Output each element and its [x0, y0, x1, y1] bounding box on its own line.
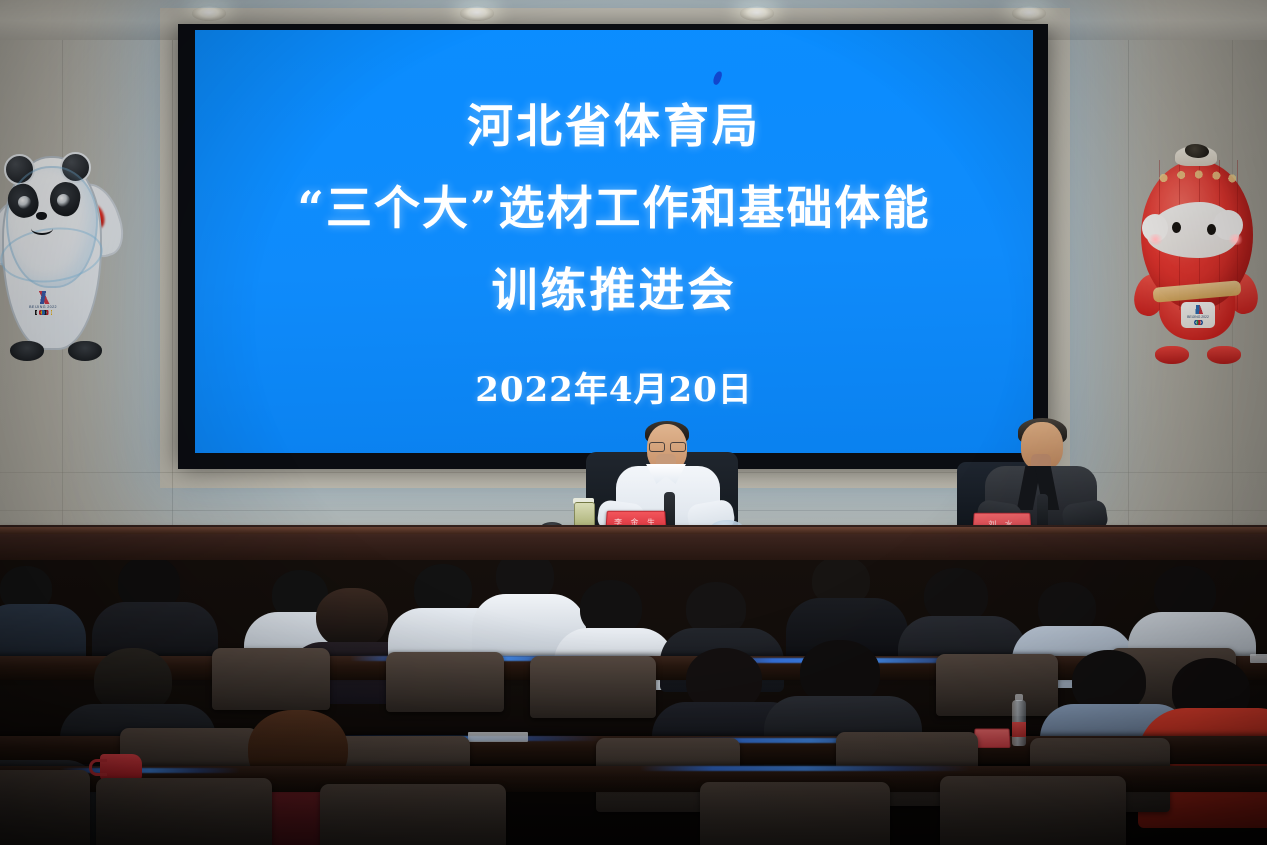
screen-title-line-2: “三个大”选材工作和基础体能	[298, 172, 931, 238]
ceiling-light	[460, 6, 494, 21]
mascot-blush-left	[1147, 234, 1164, 245]
emblem-mark	[32, 291, 54, 304]
desk-screen-reflection	[640, 766, 970, 771]
bottle-label	[1012, 722, 1026, 737]
lantern-knot	[1185, 144, 1209, 158]
water-bottle	[1012, 700, 1026, 746]
head-table-edge	[0, 527, 1267, 534]
lantern-pattern	[1153, 166, 1241, 186]
emblem-mark	[1187, 305, 1209, 314]
paralympic-emblem-icon: BEIJING 2022	[1181, 302, 1215, 328]
official-seated-right: 刘 水	[975, 418, 1107, 538]
ceiling-light	[740, 6, 774, 21]
ceiling-light	[192, 6, 226, 21]
mascot-eye-left	[18, 196, 31, 209]
conference-photo: 河北省体育局 “三个大”选材工作和基础体能 训练推进会 2022年4月20日 B…	[0, 0, 1267, 845]
screen-title-line-3: 训练推进会	[492, 254, 737, 320]
screen-date: 2022年4月20日	[475, 362, 753, 411]
mascot-foot-right	[68, 341, 102, 361]
mascot-shuey-rhon-rhon: BEIJING 2022	[1135, 142, 1259, 364]
mascot-foot-left	[1155, 346, 1189, 364]
chair	[212, 648, 330, 710]
chair	[96, 778, 272, 845]
chair	[940, 776, 1126, 845]
mascot-bing-dwen-dwen: BEIJING 2022	[0, 140, 116, 365]
glasses-icon	[649, 442, 686, 450]
head	[316, 588, 388, 650]
mascot-nose	[36, 212, 47, 220]
audience-area	[0, 560, 1267, 845]
chair	[386, 652, 504, 712]
chair	[0, 770, 90, 845]
mascot-blush-right	[1227, 234, 1244, 245]
screen-title-line-1: 河北省体育局	[467, 90, 761, 156]
chair	[700, 782, 890, 845]
notebook	[468, 732, 528, 742]
olympic-emblem-icon: BEIJING 2022	[28, 288, 58, 318]
agitos-icon	[1191, 320, 1206, 325]
red-cup	[100, 754, 142, 780]
mascot-foot-right	[1207, 346, 1241, 364]
led-screen: 河北省体育局 “三个大”选材工作和基础体能 训练推进会 2022年4月20日	[195, 30, 1033, 453]
emblem-label: BEIJING 2022	[1187, 315, 1209, 319]
audience-member	[96, 560, 216, 656]
audience-member	[0, 566, 86, 658]
mascot-mouth	[31, 222, 53, 235]
olympic-rings-icon	[35, 310, 52, 315]
mascot-foot-left	[10, 341, 44, 361]
emblem-label: BEIJING 2022	[29, 305, 57, 309]
ceiling-light	[1012, 6, 1046, 21]
mascot-eye-right	[57, 194, 70, 207]
mascot-eye-left	[1172, 222, 1181, 233]
chair	[530, 656, 656, 718]
name-card	[974, 729, 1011, 748]
official-seated-left: 李 金 生	[600, 424, 730, 536]
chair	[320, 784, 506, 845]
screen-content: 河北省体育局 “三个大”选材工作和基础体能 训练推进会 2022年4月20日	[195, 30, 1033, 453]
mascot-eye-right	[1207, 224, 1216, 235]
